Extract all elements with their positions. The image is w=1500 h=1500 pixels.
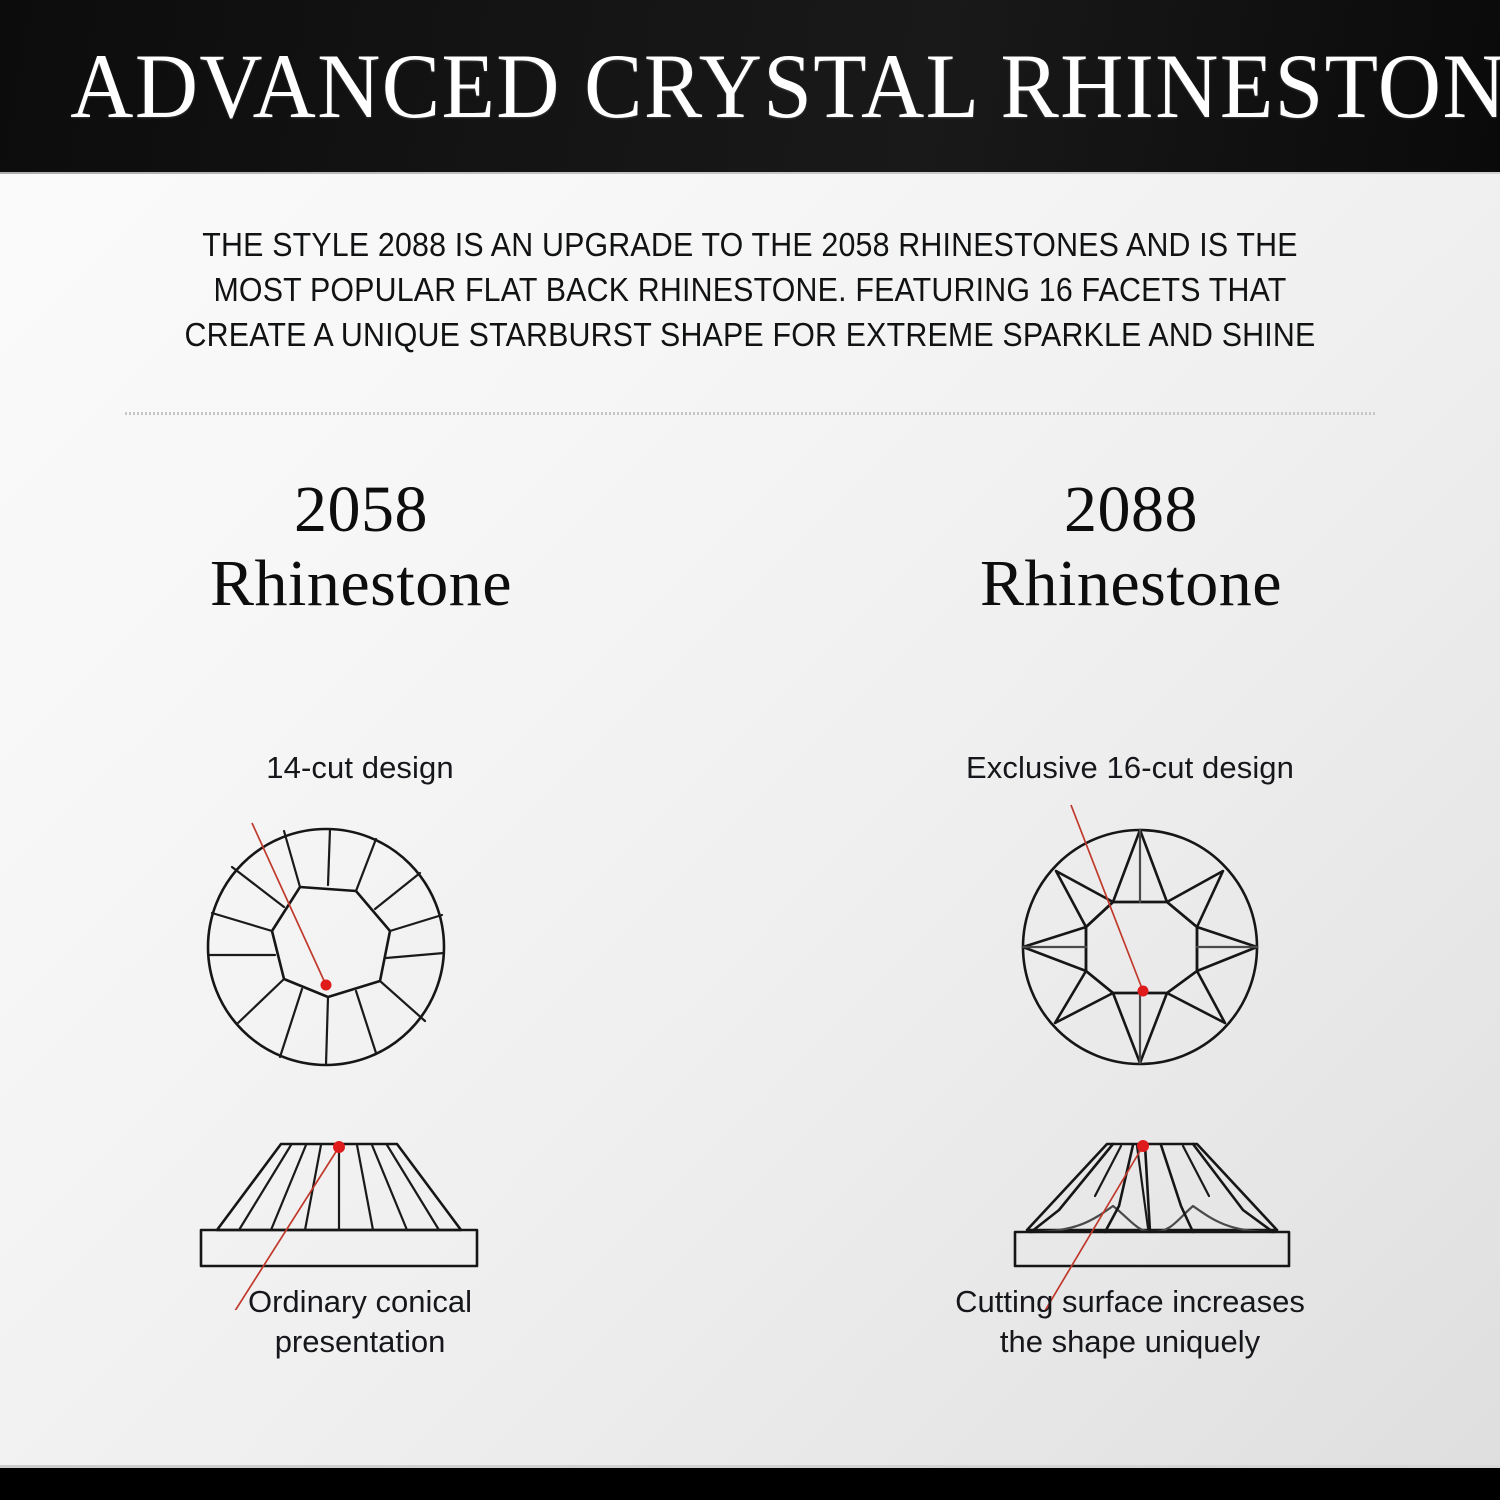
caption-line-2: the shape uniquely: [760, 1322, 1500, 1362]
caption-line-1: Ordinary conical: [0, 1282, 720, 1322]
diagram-2058-top-view: [180, 795, 470, 1085]
header-divider: [0, 172, 1500, 174]
caption-2058: Ordinary conical presentation: [0, 1282, 750, 1362]
column-title-2088: 2088 Rhinestone: [750, 470, 1500, 624]
intro-line-2: MOST POPULAR FLAT BACK RHINESTONE. FEATU…: [161, 267, 1339, 312]
base-plate: [1015, 1232, 1289, 1266]
dome-body: [1027, 1144, 1277, 1230]
callout-label-16-cut: Exclusive 16-cut design: [750, 750, 1500, 786]
column-2088: 2088 Rhinestone Exclusive 16-cut design: [750, 470, 1500, 1420]
intro-paragraph: THE STYLE 2088 IS AN UPGRADE TO THE 2058…: [161, 222, 1339, 357]
rhinestone-table-polygon: [1086, 902, 1197, 993]
callout-pointer-dot: [321, 980, 332, 991]
column-2058: 2058 Rhinestone 14-cut design: [0, 470, 750, 1420]
column-title-number: 2058: [0, 470, 722, 550]
caption-line-1: Cutting surface increases: [760, 1282, 1500, 1322]
caption-line-2: presentation: [0, 1322, 720, 1362]
base-plate: [201, 1230, 477, 1266]
column-title-word: Rhinestone: [0, 544, 722, 624]
star-ridge-inner-lines: [1095, 1146, 1209, 1228]
caption-2088: Cutting surface increases the shape uniq…: [750, 1282, 1500, 1362]
column-title-number: 2088: [762, 470, 1500, 550]
column-title-word: Rhinestone: [762, 544, 1500, 624]
callout-pointer-dot: [1138, 986, 1149, 997]
footer-banner: [0, 1468, 1500, 1500]
caption-pointer-dot: [1137, 1140, 1149, 1152]
header-banner: ADVANCED CRYSTAL RHINESTONES: [0, 0, 1500, 172]
scallop-edge: [1031, 1206, 1273, 1232]
callout-label-14-cut: 14-cut design: [0, 750, 750, 786]
dotted-divider: [125, 412, 1377, 415]
cone-facet-lines: [239, 1145, 439, 1230]
poster-canvas: ADVANCED CRYSTAL RHINESTONES THE STYLE 2…: [0, 0, 1500, 1500]
column-title-2058: 2058 Rhinestone: [0, 470, 750, 624]
comparison-columns: 2058 Rhinestone 14-cut design: [0, 470, 1500, 1420]
callout-pointer-line: [1071, 805, 1143, 991]
page-title: ADVANCED CRYSTAL RHINESTONES: [0, 40, 1500, 132]
diagram-2088-top-view: [995, 795, 1285, 1085]
intro-line-3: CREATE A UNIQUE STARBURST SHAPE FOR EXTR…: [161, 312, 1339, 357]
intro-line-1: THE STYLE 2088 IS AN UPGRADE TO THE 2058…: [161, 222, 1339, 267]
caption-pointer-dot: [333, 1141, 345, 1153]
